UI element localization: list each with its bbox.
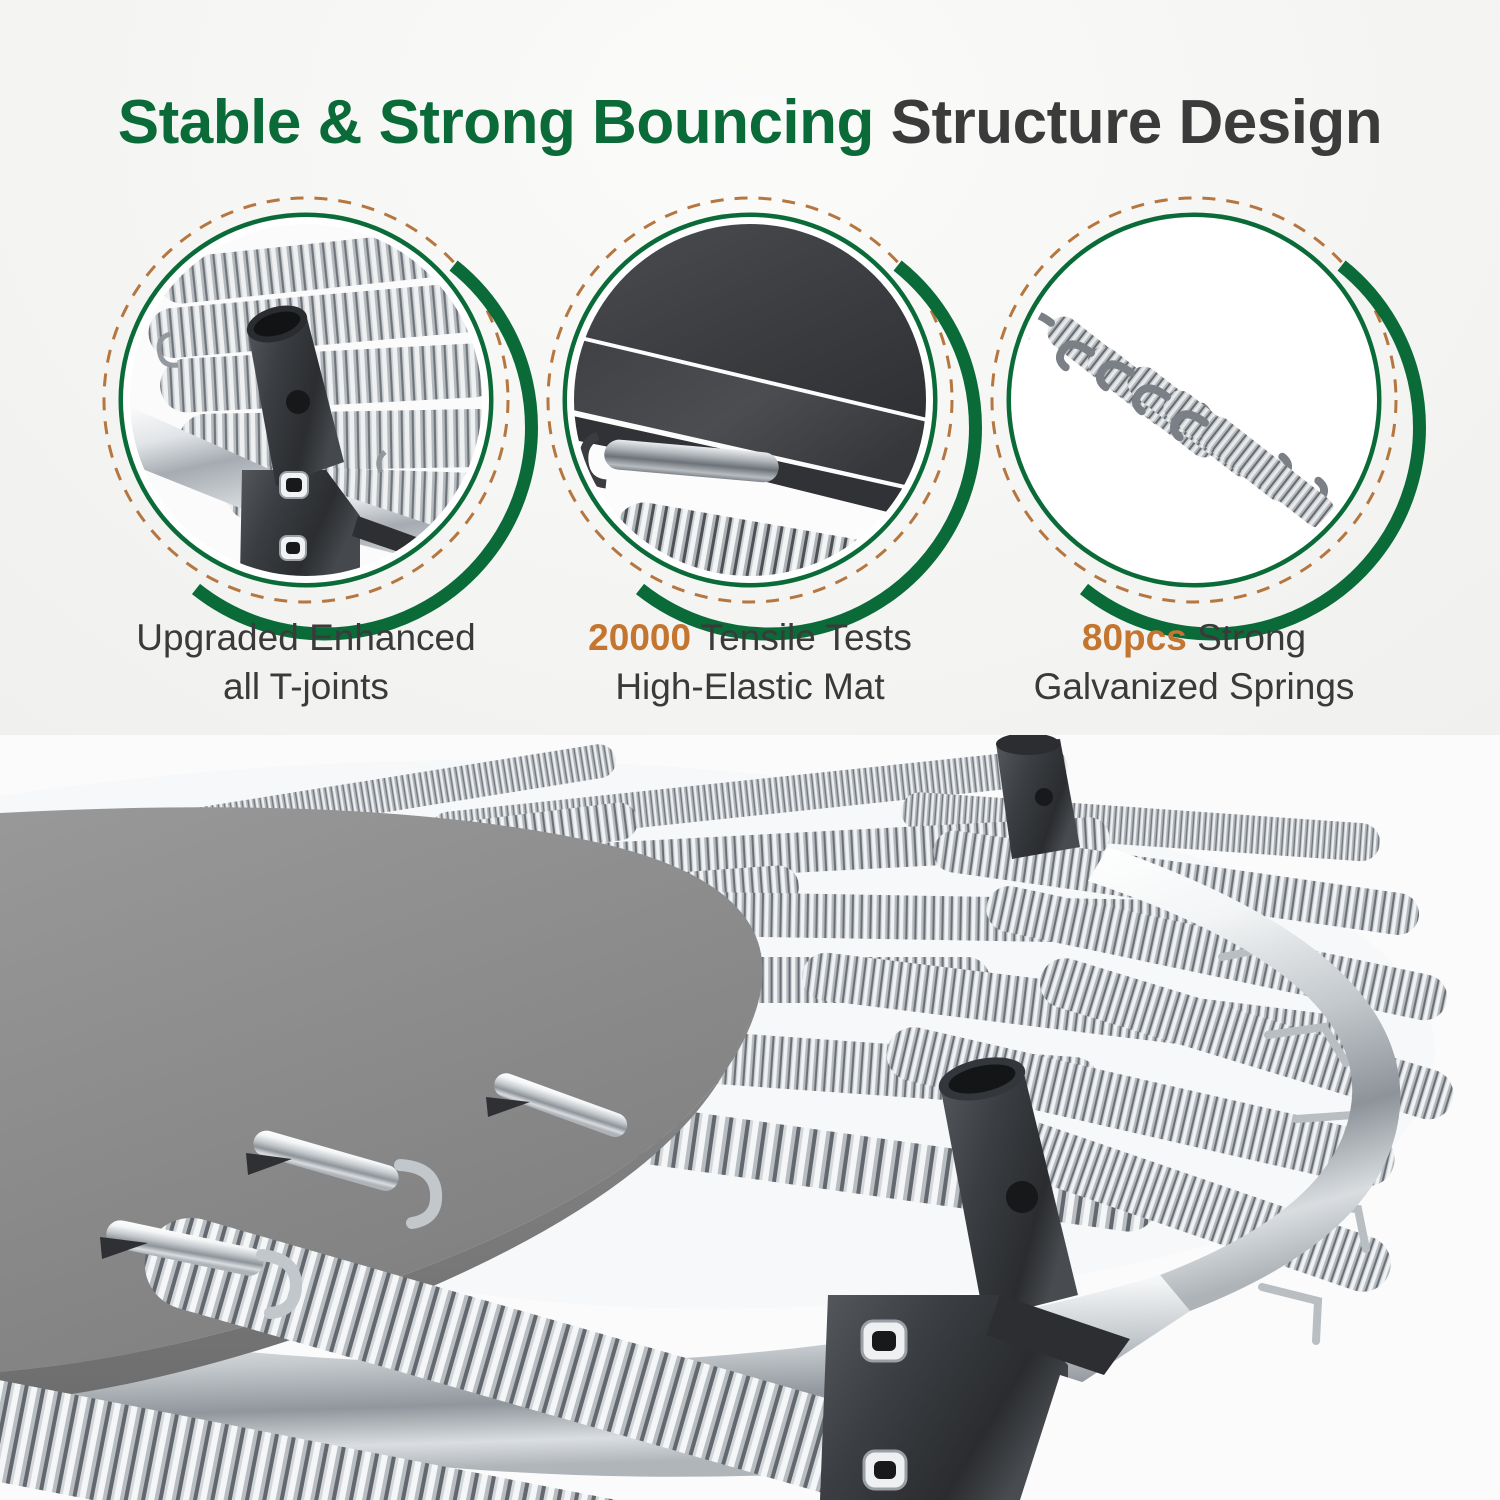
caption-2-line2: High-Elastic Mat bbox=[615, 666, 884, 707]
caption-3-line2: Galvanized Springs bbox=[1034, 666, 1355, 707]
feature-caption-2: 20000 Tensile Tests High-Elastic Mat bbox=[510, 614, 990, 712]
caption-2-rest: Tensile Tests bbox=[691, 617, 912, 658]
caption-3-highlight: 80pcs bbox=[1082, 617, 1187, 658]
feature-caption-1: Upgraded Enhanced all T-joints bbox=[66, 614, 546, 712]
hero-product-image bbox=[0, 735, 1500, 1500]
page-title-green: Stable & Strong Bouncing bbox=[118, 88, 874, 157]
feature-card-tensile-tests: 20000 Tensile Tests High-Elastic Mat bbox=[540, 190, 960, 730]
feature-ring-3 bbox=[984, 190, 1404, 610]
feature-ring-1 bbox=[96, 190, 516, 610]
page-title-dark: Structure Design bbox=[874, 88, 1382, 157]
feature-caption-3: 80pcs Strong Galvanized Springs bbox=[954, 614, 1434, 712]
feature-photo-mat bbox=[574, 224, 926, 576]
caption-2-highlight: 20000 bbox=[588, 617, 691, 658]
caption-1-line2: all T-joints bbox=[223, 666, 389, 707]
feature-card-galvanized-springs: 80pcs Strong Galvanized Springs bbox=[984, 190, 1404, 730]
product-feature-page: Stable & Strong Bouncing Structure Desig… bbox=[0, 0, 1500, 1500]
feature-ring-2 bbox=[540, 190, 960, 610]
trampoline-illustration bbox=[0, 735, 1500, 1500]
page-title: Stable & Strong Bouncing Structure Desig… bbox=[0, 90, 1500, 155]
caption-1-line1: Upgraded Enhanced bbox=[136, 617, 475, 658]
caption-3-rest: Strong bbox=[1187, 617, 1306, 658]
feature-photo-t-joint bbox=[130, 224, 482, 576]
feature-photo-springs bbox=[1018, 224, 1370, 576]
feature-card-t-joints: Upgraded Enhanced all T-joints bbox=[96, 190, 516, 730]
feature-row: Upgraded Enhanced all T-joints bbox=[0, 190, 1500, 730]
